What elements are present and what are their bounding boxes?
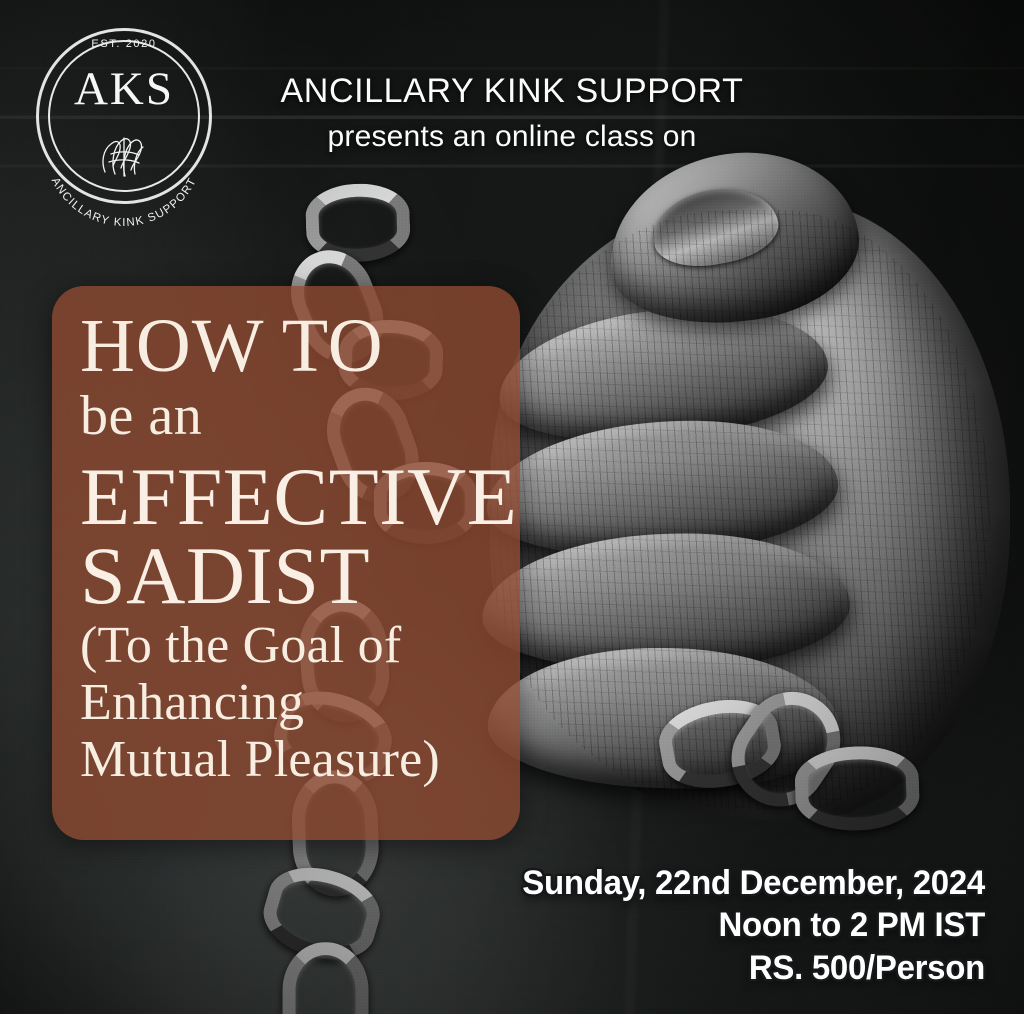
logo-curved-name: ANCILLARY KINK SUPPORT — [36, 144, 212, 206]
subtitle-line-1: (To the Goal of — [80, 618, 510, 673]
title-be-an: be an — [80, 386, 510, 446]
poster-canvas: EST. 2020 AKS ANCILLARY KINK SUPPORT ANC… — [0, 0, 1024, 1014]
event-details: Sunday, 22nd December, 2024 Noon to 2 PM… — [508, 862, 985, 990]
title-sadist: SADIST — [80, 537, 510, 616]
event-date: Sunday, 22nd December, 2024 — [522, 862, 985, 905]
organization-name: ANCILLARY KINK SUPPORT — [232, 72, 792, 111]
title-panel-content: HOW TO be an EFFECTIVE SADIST (To the Go… — [80, 312, 510, 787]
event-price: RS. 500/Person — [522, 947, 985, 990]
event-time: Noon to 2 PM IST — [522, 904, 985, 947]
logo-established-text: EST. 2020 — [36, 38, 212, 50]
logo-initials: AKS — [36, 66, 212, 113]
header-block: ANCILLARY KINK SUPPORT presents an onlin… — [232, 72, 792, 154]
subtitle-line-3: Mutual Pleasure) — [80, 732, 510, 787]
aks-logo: EST. 2020 AKS ANCILLARY KINK SUPPORT — [36, 28, 212, 204]
title-effective: EFFECTIVE — [80, 458, 510, 537]
title-how-to: HOW TO — [80, 312, 510, 382]
presents-line: presents an online class on — [232, 120, 792, 154]
subtitle-line-2: Enhancing — [80, 675, 510, 730]
title-panel: HOW TO be an EFFECTIVE SADIST (To the Go… — [52, 286, 520, 840]
